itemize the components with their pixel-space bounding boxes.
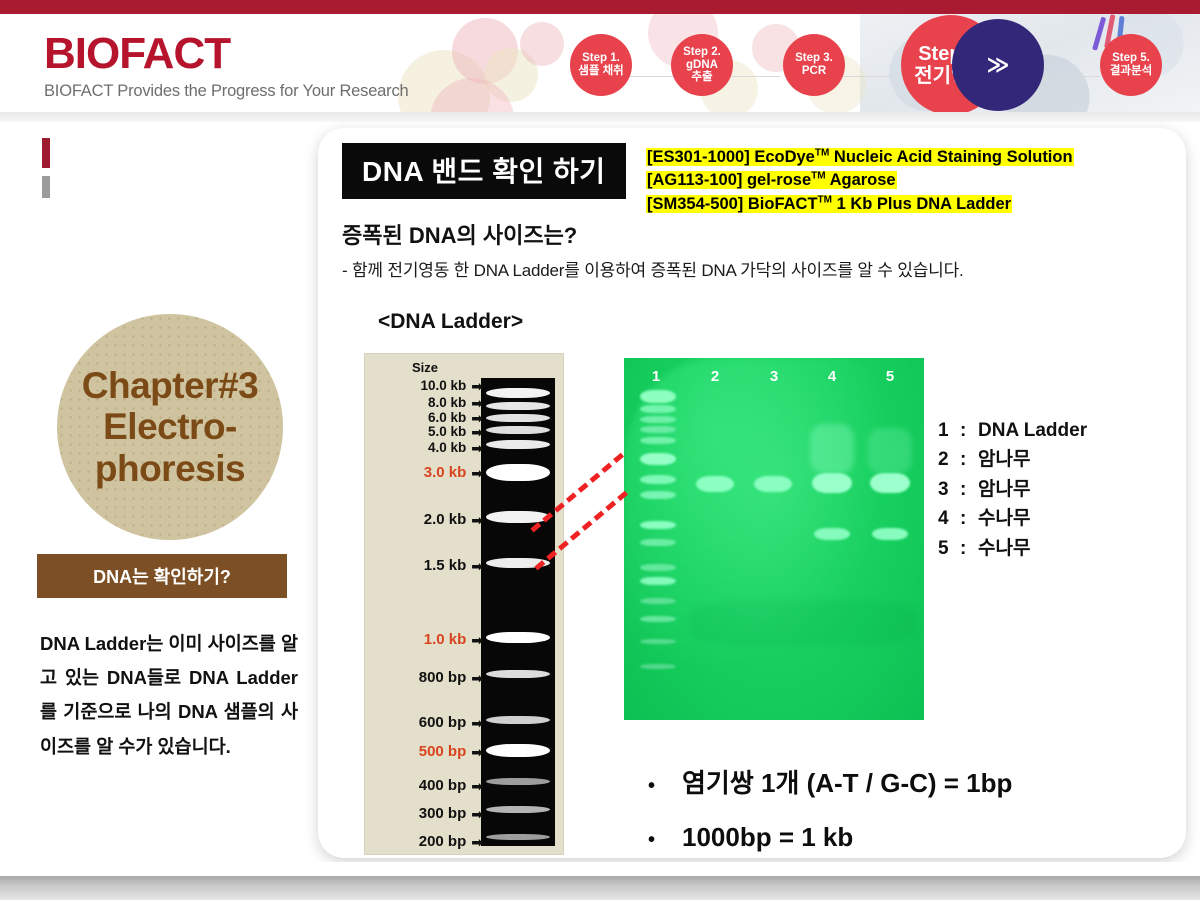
ladder-marker-1kb: 1.0 kb➡ bbox=[369, 631, 483, 648]
step-item-3[interactable]: Step 3. PCR bbox=[783, 34, 845, 96]
gel-lane-number-4: 4 bbox=[822, 368, 842, 385]
logo-tagline: BIOFACT Provides the Progress for Your R… bbox=[44, 82, 408, 101]
sidebar-question-banner: DNA는 확인하기? bbox=[37, 554, 287, 598]
page-title-text: DNA 밴드 확인 하기 bbox=[362, 156, 606, 187]
slide-root: BIOFACT BIOFACT Provides the Progress fo… bbox=[0, 0, 1200, 900]
chapter-line-3: phoresis bbox=[95, 448, 245, 489]
step-5-line2: 결과분석 bbox=[1110, 65, 1152, 78]
step-1-line2: 샘플 채취 bbox=[578, 65, 624, 78]
gel-band-lane4b bbox=[814, 528, 850, 540]
legend-sep-5: : bbox=[960, 534, 978, 563]
gel-lane-number-3: 3 bbox=[764, 368, 784, 385]
gel-lane-number-5: 5 bbox=[880, 368, 900, 385]
header-accent-bar bbox=[0, 0, 1200, 14]
legend-row-1: 1 : DNA Ladder bbox=[938, 416, 1087, 445]
legend-sep-4: : bbox=[960, 504, 978, 533]
gel-lane-number-1: 1 bbox=[646, 368, 666, 385]
step-3-line2: PCR bbox=[802, 65, 826, 78]
product-row-1: [ES301-1000] EcoDyeTM Nucleic Acid Stain… bbox=[646, 146, 1074, 169]
step-2-line2: gDNA bbox=[686, 59, 718, 72]
ladder-marker-8kb: 8.0 kb➡ bbox=[369, 395, 483, 410]
step-connector-4 bbox=[1042, 76, 1100, 77]
brand-logo: BIOFACT BIOFACT Provides the Progress fo… bbox=[44, 32, 408, 101]
ladder-marker-5kb: 5.0 kb➡ bbox=[369, 424, 483, 439]
ladder-marker-6kb: 6.0 kb➡ bbox=[369, 410, 483, 425]
footer-gap bbox=[0, 862, 1200, 876]
legend-sep-3: : bbox=[960, 475, 978, 504]
step-item-1[interactable]: Step 1. 샘플 채취 bbox=[570, 34, 632, 96]
ladder-marker-300bp: 300 bp➡ bbox=[369, 805, 483, 822]
legend-row-2: 2 : 암나무 bbox=[938, 445, 1087, 474]
gel-band-lane3 bbox=[754, 476, 792, 492]
product-row-3: [SM354-500] BioFACTTM 1 Kb Plus DNA Ladd… bbox=[646, 193, 1074, 216]
step-5-line1: Step 5. bbox=[1112, 52, 1150, 65]
ladder-size-header: Size bbox=[365, 360, 485, 375]
gel-band-lane4a bbox=[812, 473, 852, 493]
chevron-right-icon: ≫ bbox=[986, 53, 1009, 78]
sidebar-marker-gray bbox=[42, 176, 50, 198]
bullet-text-1: 염기쌍 1개 (A-T / G-C) = 1bp bbox=[682, 763, 1012, 800]
gel-lane-legend: 1 : DNA Ladder 2 : 암나무 3 : 암나무 4 : 수나무 5 bbox=[938, 416, 1087, 563]
step-2-line3: 추출 bbox=[691, 71, 712, 84]
legend-lane-5: 5 bbox=[938, 534, 960, 563]
legend-sample-1: DNA Ladder bbox=[978, 416, 1087, 445]
ladder-marker-10kb: 10.0 kb➡ bbox=[369, 378, 483, 393]
content-card: DNA 밴드 확인 하기 [ES301-1000] EcoDyeTM Nucle… bbox=[318, 128, 1186, 858]
chapter-title: Chapter#3 Electro- phoresis bbox=[82, 365, 258, 489]
bullet-text-2: 1000bp = 1 kb bbox=[682, 822, 853, 853]
legend-sample-5: 수나무 bbox=[978, 534, 1030, 563]
bullet-item-1: • 염기쌍 1개 (A-T / G-C) = 1bp bbox=[648, 763, 1012, 800]
chapter-line-1: Chapter#3 bbox=[82, 365, 258, 406]
bullet-item-2: • 1000bp = 1 kb bbox=[648, 822, 1012, 853]
ladder-marker-400bp: 400 bp➡ bbox=[369, 777, 483, 794]
bullet-dot-2: • bbox=[648, 829, 682, 852]
step-1-line1: Step 1. bbox=[582, 52, 620, 65]
page-title: DNA 밴드 확인 하기 bbox=[342, 143, 626, 199]
ladder-marker-3kb: 3.0 kb➡ bbox=[369, 464, 483, 481]
legend-sep-2: : bbox=[960, 445, 978, 474]
legend-row-4: 4 : 수나무 bbox=[938, 504, 1087, 533]
legend-sample-3: 암나무 bbox=[978, 475, 1030, 504]
footer-bar bbox=[0, 876, 1200, 900]
header-band: BIOFACT BIOFACT Provides the Progress fo… bbox=[0, 14, 1200, 112]
legend-lane-2: 2 bbox=[938, 445, 960, 474]
gel-electrophoresis-image: 1 2 3 4 5 bbox=[624, 358, 924, 720]
logo-wordmark: BIOFACT bbox=[44, 32, 408, 76]
ladder-marker-2kb: 2.0 kb➡ bbox=[369, 511, 483, 528]
sidebar-marker-red bbox=[42, 138, 50, 168]
legend-sample-4: 수나무 bbox=[978, 504, 1030, 533]
legend-sep-1: : bbox=[960, 416, 978, 445]
legend-row-5: 5 : 수나무 bbox=[938, 534, 1087, 563]
section-description: - 함께 전기영동 한 DNA Ladder를 이용하여 증폭된 DNA 가닥의… bbox=[342, 256, 964, 281]
gel-lane-number-2: 2 bbox=[705, 368, 725, 385]
product-list: [ES301-1000] EcoDyeTM Nucleic Acid Stain… bbox=[646, 146, 1074, 216]
step-item-2[interactable]: Step 2. gDNA 추출 bbox=[671, 34, 733, 96]
legend-lane-3: 3 bbox=[938, 475, 960, 504]
bullet-dot-1: • bbox=[648, 775, 682, 798]
legend-sample-2: 암나무 bbox=[978, 445, 1030, 474]
legend-lane-1: 1 bbox=[938, 416, 960, 445]
step-item-4-active[interactable]: ≫ bbox=[952, 19, 1044, 111]
ladder-marker-200bp: 200 bp➡ bbox=[369, 833, 483, 850]
ladder-marker-500bp: 500 bp➡ bbox=[369, 743, 483, 760]
sidebar-banner-label: DNA는 확인하기? bbox=[93, 563, 231, 589]
gel-band-lane5a bbox=[870, 473, 910, 493]
ladder-marker-800bp: 800 bp➡ bbox=[369, 669, 483, 686]
section-subheading: 증폭된 DNA의 사이즈는? bbox=[342, 218, 577, 250]
ladder-caption: <DNA Ladder> bbox=[378, 310, 523, 334]
chapter-line-2: Electro- bbox=[103, 406, 237, 447]
sidebar: Chapter#3 Electro- phoresis DNA는 확인하기? D… bbox=[0, 122, 318, 862]
header-divider bbox=[0, 112, 1200, 122]
dna-ladder-figure: Size 10.0 kb➡ 8.0 kb bbox=[364, 353, 564, 855]
legend-row-3: 3 : 암나무 bbox=[938, 475, 1087, 504]
step-3-line1: Step 3. bbox=[795, 52, 833, 65]
step-2-line1: Step 2. bbox=[683, 46, 721, 59]
product-row-2: [AG113-100] gel-roseTM Agarose bbox=[646, 169, 1074, 192]
gel-band-lane2 bbox=[696, 476, 734, 492]
step-item-5[interactable]: Step 5. 결과분석 bbox=[1100, 34, 1162, 96]
sidebar-paragraph: DNA Ladder는 이미 사이즈를 알고 있는 DNA들로 DNA Ladd… bbox=[40, 627, 298, 764]
ladder-marker-1-5kb: 1.5 kb➡ bbox=[369, 557, 483, 574]
summary-bullets: • 염기쌍 1개 (A-T / G-C) = 1bp • 1000bp = 1 … bbox=[648, 763, 1012, 875]
legend-lane-4: 4 bbox=[938, 504, 960, 533]
chapter-badge: Chapter#3 Electro- phoresis bbox=[57, 314, 283, 540]
gel-band-lane5b bbox=[872, 528, 908, 540]
ladder-lane bbox=[481, 378, 555, 846]
ladder-marker-600bp: 600 bp➡ bbox=[369, 714, 483, 731]
ladder-marker-4kb: 4.0 kb➡ bbox=[369, 440, 483, 455]
